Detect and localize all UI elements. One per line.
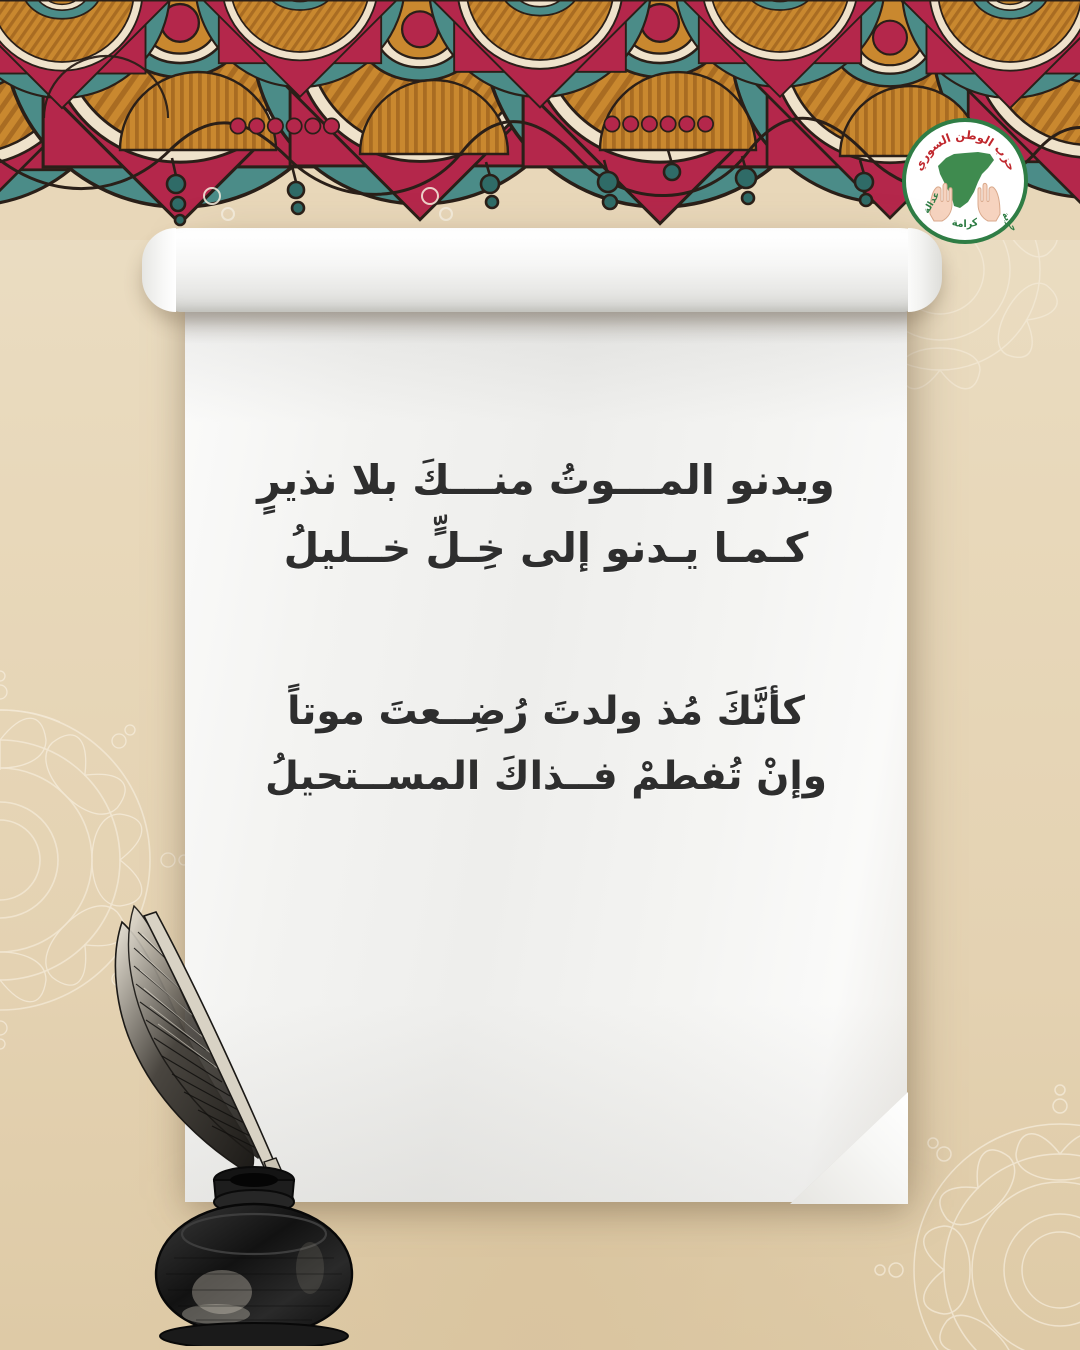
- quill-pen-inkwell-illustration: [104, 862, 390, 1346]
- poem-line: وإنْ تُفطمْ فــذاكَ المســتحيلُ: [185, 745, 907, 810]
- svg-text:كرامة: كرامة: [951, 217, 980, 230]
- party-logo-badge[interactable]: حزب الوطن السوري كرامة عدالة حرية: [902, 118, 1028, 244]
- poem-line: كأنَّكَ مُذ ولدتَ رُضِــعتَ موتاً: [185, 680, 907, 745]
- poem-stanza-2: كأنَّكَ مُذ ولدتَ رُضِــعتَ موتاً وإنْ ت…: [185, 680, 907, 809]
- logo-bottom-text: كرامة: [951, 217, 980, 230]
- feather-icon: [115, 906, 261, 1174]
- stanza-gap: [185, 628, 907, 680]
- poem-line: كـمـا يـدنو إلى خِـلٍّ خــليلُ: [185, 514, 907, 582]
- poem-line: ويدنو المـــوتُ منـــكَ بلا نذيرٍ: [185, 446, 907, 514]
- poster-canvas: حزب الوطن السوري كرامة عدالة حرية ويدنو …: [0, 0, 1080, 1350]
- poem-stanza-1: ويدنو المـــوتُ منـــكَ بلا نذيرٍ كـمـا …: [185, 446, 907, 582]
- inkwell-body-icon: [156, 1204, 352, 1346]
